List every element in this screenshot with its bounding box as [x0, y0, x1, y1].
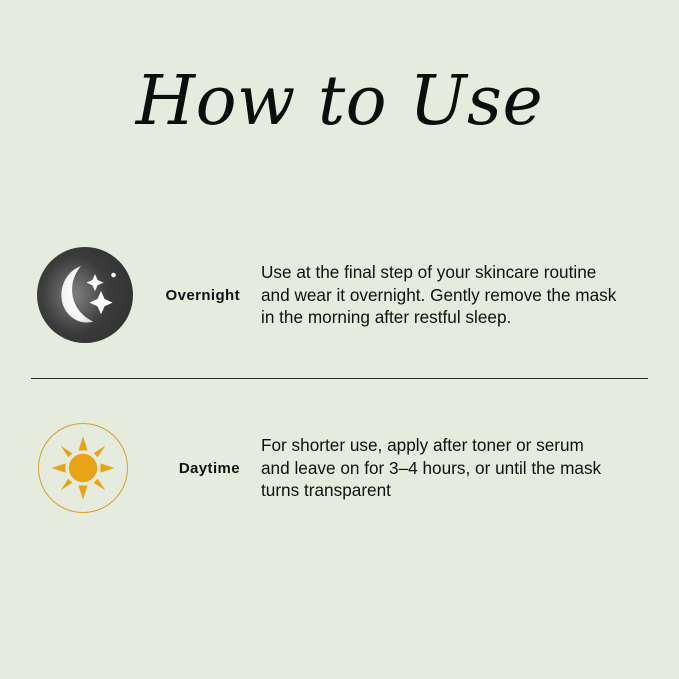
sun-shape: [51, 436, 115, 500]
sun-icon: [38, 423, 128, 513]
page-title: How to Use: [0, 68, 679, 136]
instruction-line: Use at the final step of your skincare r…: [261, 261, 616, 284]
instruction-line: turns transparent: [261, 479, 601, 502]
instruction-line: For shorter use, apply after toner or se…: [261, 434, 601, 457]
daytime-icon-cell: [0, 423, 152, 513]
instruction-line: and leave on for 3–4 hours, or until the…: [261, 457, 601, 480]
instruction-row-overnight: Overnight Use at the final step of your …: [0, 243, 679, 347]
instruction-label-overnight: Overnight: [152, 287, 240, 304]
instruction-line: and wear it overnight. Gently remove the…: [261, 284, 616, 307]
instruction-text-overnight: Use at the final step of your skincare r…: [240, 261, 616, 329]
overnight-icon-cell: [0, 247, 152, 343]
how-to-use-panel: How to Use: [0, 0, 679, 679]
instruction-label-daytime: Daytime: [152, 460, 240, 477]
crescent-moon-stars-icon: [37, 247, 133, 343]
moon-sparkle-stars: [37, 247, 133, 343]
section-divider: [31, 378, 648, 379]
instruction-line: in the morning after restful sleep.: [261, 306, 616, 329]
instruction-text-daytime: For shorter use, apply after toner or se…: [240, 434, 601, 502]
instruction-row-daytime: Daytime For shorter use, apply after ton…: [0, 418, 679, 518]
